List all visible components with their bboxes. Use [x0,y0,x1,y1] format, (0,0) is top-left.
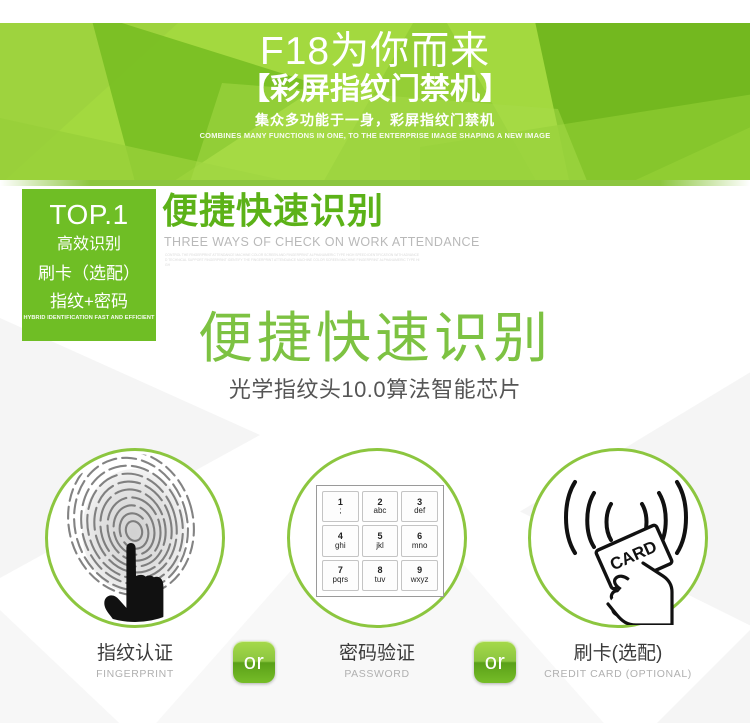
hero-subtitle: 【彩屏指纹门禁机】 [0,72,750,108]
rfid-card-icon: CARD [531,451,705,625]
keypad-key-letters: abc [374,507,387,515]
center-headline: 便捷快速识别 光学指纹头10.0算法智能芯片 [0,305,750,405]
fingerprint-icon [48,451,222,625]
keypad-key-letters: mno [412,542,428,550]
section-heading-microcopy: CONTROL THE FINGERPRINT ATTENDANCE MACHI… [165,253,420,269]
center-headline-cn: 便捷快速识别 [0,305,750,371]
section-heading: 便捷快速识别 THREE WAYS OF CHECK ON WORK ATTEN… [162,190,592,269]
keypad-icon: 1 ; 2 abc 3 def 4 ghi 5 jkl [316,485,444,597]
method-circle-card: CARD [528,448,708,628]
method-circle-fingerprint [45,448,225,628]
rank-subtitle: 高效识别 [22,233,156,257]
keypad-key-letters: jkl [376,542,384,550]
keypad-key: 4 ghi [322,525,359,556]
method-circle-password: 1 ; 2 abc 3 def 4 ghi 5 jkl [287,448,467,628]
keypad-key: 1 ; [322,491,359,522]
keypad-key-letters: ; [339,507,341,515]
method-label-cn: 刷卡(选配) [503,641,733,667]
keypad-key-letters: tuv [375,576,386,584]
method-label-cn: 指纹认证 [20,641,250,667]
method-caption-fingerprint: 指纹认证 FINGERPRINT [20,641,250,682]
center-headline-sub: 光学指纹头10.0算法智能芯片 [0,375,750,405]
keypad-key: 8 tuv [362,560,399,591]
keypad-key: 3 def [401,491,438,522]
method-label-en: FINGERPRINT [20,667,250,682]
method-label-en: CREDIT CARD (OPTIONAL) [503,667,733,682]
keypad-key: 5 jkl [362,525,399,556]
keypad-key: 9 wxyz [401,560,438,591]
or-separator-badge-2: or [474,641,516,683]
method-caption-card: 刷卡(选配) CREDIT CARD (OPTIONAL) [503,641,733,682]
rank-label: TOP.1 [22,199,156,231]
hero-tagline-en: COMBINES MANY FUNCTIONS IN ONE, TO THE E… [0,130,750,141]
or-separator-badge-1: or [233,641,275,683]
hero-title: F18为你而来 [0,30,750,74]
keypad-key-letters: ghi [335,542,346,550]
hero-banner: F18为你而来 【彩屏指纹门禁机】 集众多功能于一身，彩屏指纹门禁机 COMBI… [0,23,750,180]
rank-feature-line-1: 刷卡（选配） [22,263,156,285]
hero-tagline-cn: 集众多功能于一身，彩屏指纹门禁机 [0,111,750,130]
section-heading-cn: 便捷快速识别 [162,190,592,232]
method-label-en: PASSWORD [262,667,492,682]
green-divider-strip [0,180,750,186]
keypad-key: 7 pqrs [322,560,359,591]
product-promo-page: F18为你而来 【彩屏指纹门禁机】 集众多功能于一身，彩屏指纹门禁机 COMBI… [0,0,750,723]
keypad-key-letters: def [414,507,425,515]
keypad-key: 6 mno [401,525,438,556]
method-label-cn: 密码验证 [262,641,492,667]
keypad-key-letters: wxyz [411,576,429,584]
section-heading-en: THREE WAYS OF CHECK ON WORK ATTENDANCE [164,234,592,251]
method-caption-password: 密码验证 PASSWORD [262,641,492,682]
keypad-key-letters: pqrs [333,576,349,584]
keypad-key: 2 abc [362,491,399,522]
verification-methods: 1 ; 2 abc 3 def 4 ghi 5 jkl [0,448,750,708]
